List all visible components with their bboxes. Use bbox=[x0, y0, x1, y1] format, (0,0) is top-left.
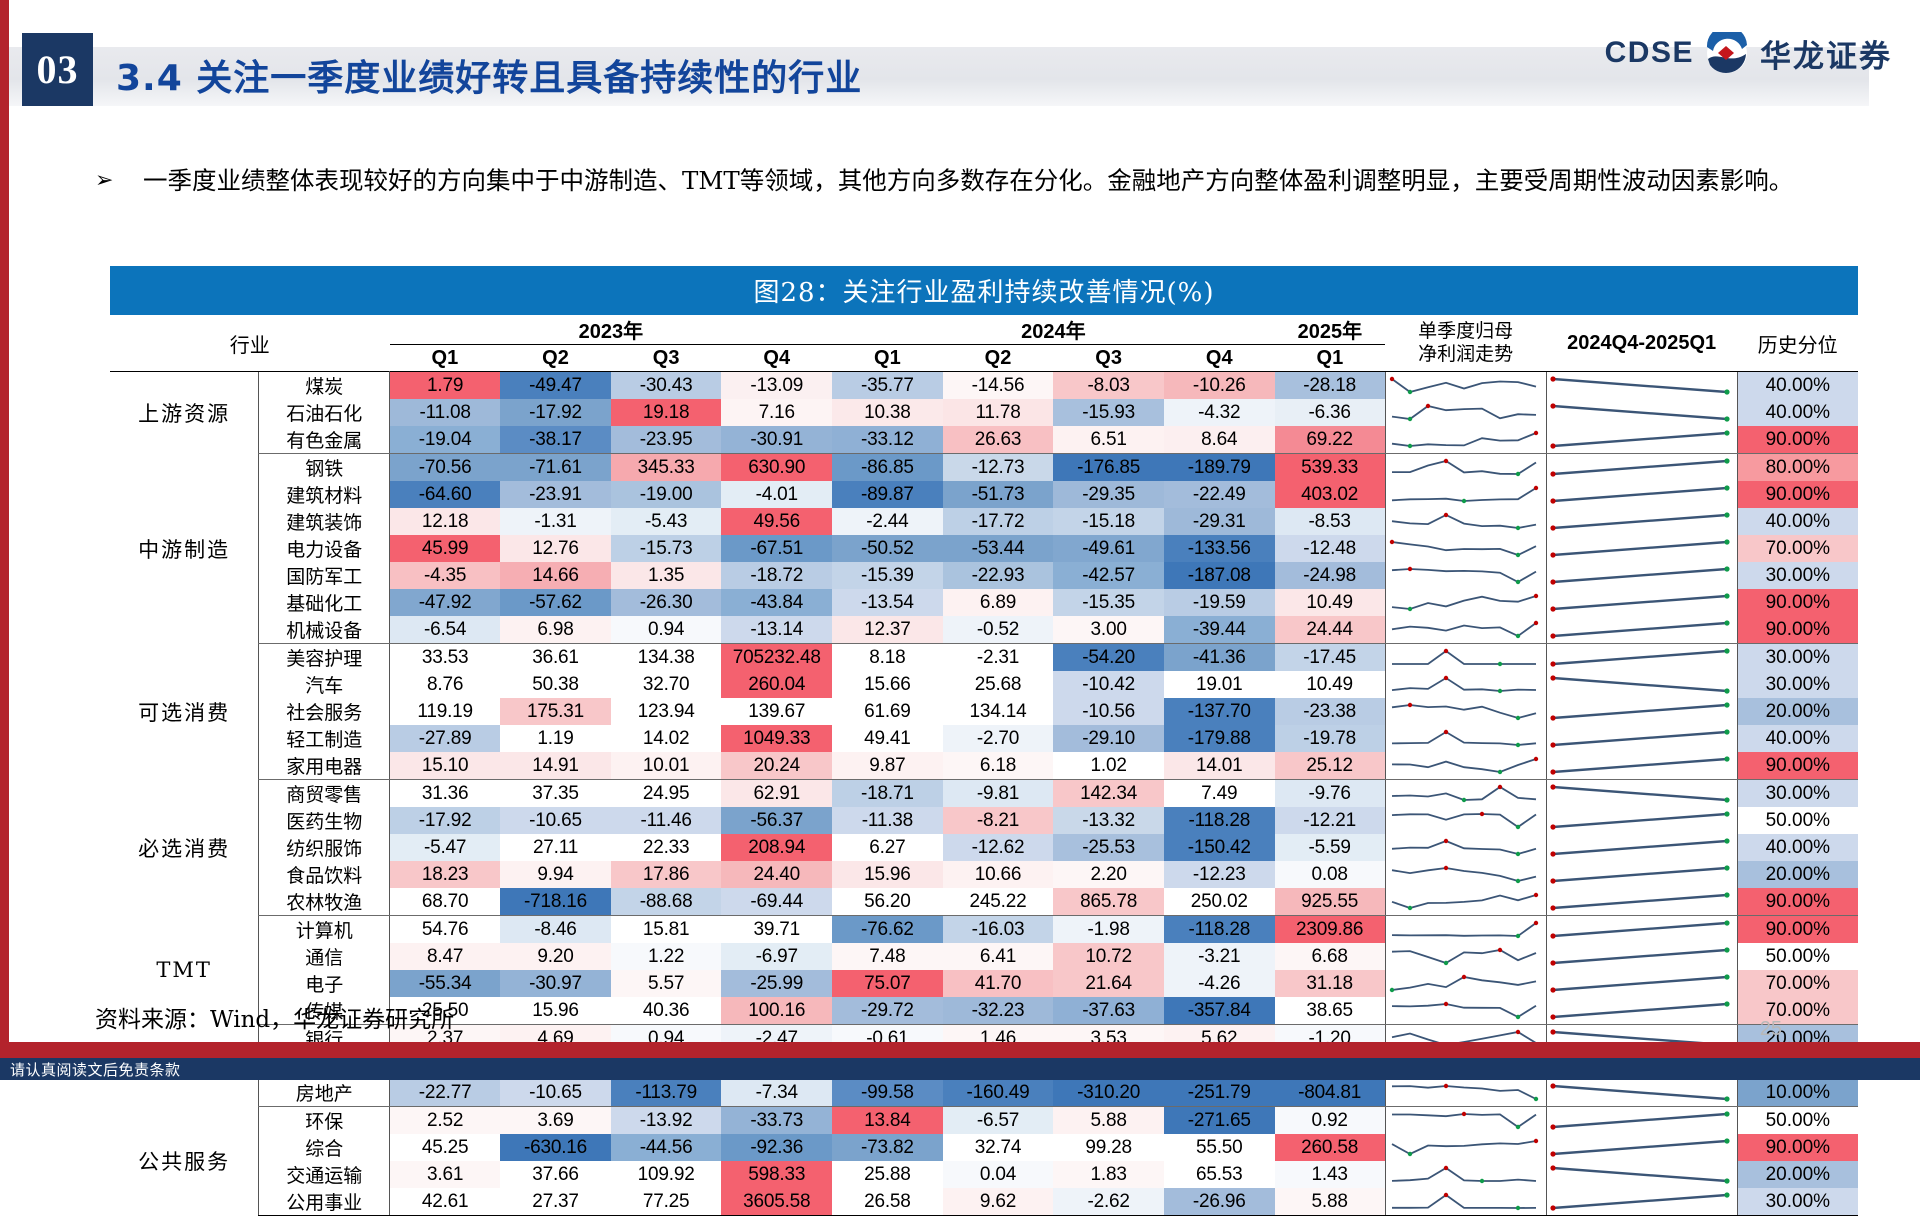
value-cell: -49.47 bbox=[500, 372, 611, 400]
value-cell: 250.02 bbox=[1164, 888, 1275, 916]
value-cell: 14.66 bbox=[500, 562, 611, 589]
page-title: 3.4 关注一季度业绩好转且具备持续性的行业 bbox=[116, 44, 862, 106]
value-cell: -14.56 bbox=[943, 372, 1054, 400]
delta-column-header: 2024Q4-2025Q1 bbox=[1546, 315, 1737, 372]
value-cell: 403.02 bbox=[1275, 481, 1386, 508]
value-cell: 6.89 bbox=[943, 589, 1054, 616]
value-cell: 3.69 bbox=[500, 1107, 611, 1135]
quarter-header-1-2: Q3 bbox=[1053, 345, 1164, 372]
value-cell: -9.81 bbox=[943, 780, 1054, 808]
value-cell: -13.32 bbox=[1053, 807, 1164, 834]
sparkline-trend bbox=[1385, 426, 1546, 454]
value-cell: -16.03 bbox=[943, 916, 1054, 944]
sparkline-delta bbox=[1546, 698, 1737, 725]
industry-cell: 轻工制造 bbox=[259, 725, 390, 752]
value-cell: -29.72 bbox=[832, 997, 943, 1025]
table-row: 汽车8.7650.3832.70260.0415.6625.68-10.4219… bbox=[110, 671, 1858, 698]
sparkline-delta bbox=[1546, 1188, 1737, 1216]
value-cell: -53.44 bbox=[943, 535, 1054, 562]
category-cell: 中游制造 bbox=[110, 454, 259, 644]
percentile-cell: 90.00% bbox=[1737, 1134, 1858, 1161]
value-cell: -2.70 bbox=[943, 725, 1054, 752]
value-cell: -10.56 bbox=[1053, 698, 1164, 725]
table-row: 通信8.479.201.22-6.977.486.4110.72-3.216.6… bbox=[110, 943, 1858, 970]
value-cell: 37.35 bbox=[500, 780, 611, 808]
value-cell: 0.08 bbox=[1275, 861, 1386, 888]
value-cell: 134.38 bbox=[611, 644, 722, 672]
value-cell: 3.00 bbox=[1053, 616, 1164, 644]
industry-cell: 房地产 bbox=[259, 1079, 390, 1107]
value-cell: -8.03 bbox=[1053, 372, 1164, 400]
sparkline-trend bbox=[1385, 807, 1546, 834]
percentile-cell: 90.00% bbox=[1737, 888, 1858, 916]
industry-cell: 商贸零售 bbox=[259, 780, 390, 808]
value-cell: -310.20 bbox=[1053, 1079, 1164, 1107]
value-cell: 15.10 bbox=[390, 752, 501, 780]
industry-cell: 汽车 bbox=[259, 671, 390, 698]
year-group-header-0: 2023年 bbox=[390, 315, 833, 345]
value-cell: -8.53 bbox=[1275, 508, 1386, 535]
value-cell: 175.31 bbox=[500, 698, 611, 725]
sparkline-delta bbox=[1546, 1134, 1737, 1161]
sparkline-trend bbox=[1385, 454, 1546, 482]
value-cell: 61.69 bbox=[832, 698, 943, 725]
value-cell: 7.48 bbox=[832, 943, 943, 970]
value-cell: -56.37 bbox=[721, 807, 832, 834]
value-cell: 36.61 bbox=[500, 644, 611, 672]
sparkline-delta bbox=[1546, 997, 1737, 1025]
value-cell: 2.20 bbox=[1053, 861, 1164, 888]
table-row: 机械设备-6.546.980.94-13.1412.37-0.523.00-39… bbox=[110, 616, 1858, 644]
value-cell: -33.12 bbox=[832, 426, 943, 454]
value-cell: -44.56 bbox=[611, 1134, 722, 1161]
sparkline-trend bbox=[1385, 671, 1546, 698]
value-cell: -6.57 bbox=[943, 1107, 1054, 1135]
figure-title-band: 图28：关注行业盈利持续改善情况(%) bbox=[110, 266, 1858, 315]
industry-cell: 美容护理 bbox=[259, 644, 390, 672]
table-row: 社会服务119.19175.31123.94139.6761.69134.14-… bbox=[110, 698, 1858, 725]
industry-cell: 基础化工 bbox=[259, 589, 390, 616]
value-cell: 22.33 bbox=[611, 834, 722, 861]
sparkline-delta bbox=[1546, 535, 1737, 562]
value-cell: 0.92 bbox=[1275, 1107, 1386, 1135]
value-cell: 77.25 bbox=[611, 1188, 722, 1216]
industry-cell: 机械设备 bbox=[259, 616, 390, 644]
value-cell: 1.79 bbox=[390, 372, 501, 400]
sparkline-trend bbox=[1385, 644, 1546, 672]
value-cell: -23.95 bbox=[611, 426, 722, 454]
value-cell: -42.57 bbox=[1053, 562, 1164, 589]
sparkline-delta bbox=[1546, 671, 1737, 698]
sparkline-trend bbox=[1385, 562, 1546, 589]
sparkline-delta bbox=[1546, 861, 1737, 888]
value-cell: 8.64 bbox=[1164, 426, 1275, 454]
value-cell: 142.34 bbox=[1053, 780, 1164, 808]
value-cell: -73.82 bbox=[832, 1134, 943, 1161]
value-cell: 14.91 bbox=[500, 752, 611, 780]
value-cell: 37.66 bbox=[500, 1161, 611, 1188]
bullet-paragraph: ➢ 一季度业绩整体表现较好的方向集中于中游制造、TMT等领域，其他方向多数存在分… bbox=[95, 158, 1855, 204]
value-cell: -19.78 bbox=[1275, 725, 1386, 752]
percentile-cell: 20.00% bbox=[1737, 1161, 1858, 1188]
value-cell: 1.19 bbox=[500, 725, 611, 752]
value-cell: -28.18 bbox=[1275, 372, 1386, 400]
value-cell: 8.18 bbox=[832, 644, 943, 672]
value-cell: -22.77 bbox=[390, 1079, 501, 1107]
value-cell: -47.92 bbox=[390, 589, 501, 616]
value-cell: 33.53 bbox=[390, 644, 501, 672]
value-cell: -30.91 bbox=[721, 426, 832, 454]
value-cell: 50.38 bbox=[500, 671, 611, 698]
value-cell: -11.46 bbox=[611, 807, 722, 834]
category-cell: 可选消费 bbox=[110, 644, 259, 780]
bullet-text: 一季度业绩整体表现较好的方向集中于中游制造、TMT等领域，其他方向多数存在分化。… bbox=[143, 158, 1855, 204]
value-cell: 12.18 bbox=[390, 508, 501, 535]
table-row: 可选消费美容护理33.5336.61134.38705232.488.18-2.… bbox=[110, 644, 1858, 672]
percentile-cell: 20.00% bbox=[1737, 698, 1858, 725]
category-cell: 上游资源 bbox=[110, 372, 259, 454]
value-cell: -10.42 bbox=[1053, 671, 1164, 698]
value-cell: -29.10 bbox=[1053, 725, 1164, 752]
value-cell: -10.26 bbox=[1164, 372, 1275, 400]
industry-cell: 环保 bbox=[259, 1107, 390, 1135]
sparkline-trend bbox=[1385, 535, 1546, 562]
value-cell: -179.88 bbox=[1164, 725, 1275, 752]
value-cell: -357.84 bbox=[1164, 997, 1275, 1025]
value-cell: 5.88 bbox=[1275, 1188, 1386, 1216]
sparkline-delta bbox=[1546, 916, 1737, 944]
industry-cell: 国防军工 bbox=[259, 562, 390, 589]
value-cell: -30.97 bbox=[500, 970, 611, 997]
value-cell: -12.21 bbox=[1275, 807, 1386, 834]
value-cell: -19.04 bbox=[390, 426, 501, 454]
table-corner-label: 行业 bbox=[110, 315, 390, 372]
value-cell: -54.20 bbox=[1053, 644, 1164, 672]
value-cell: 25.88 bbox=[832, 1161, 943, 1188]
data-table-wrapper: 行业2023年2024年2025年单季度归母净利润走势2024Q4-2025Q1… bbox=[110, 315, 1858, 1216]
percentile-cell: 30.00% bbox=[1737, 562, 1858, 589]
sparkline-trend bbox=[1385, 698, 1546, 725]
sparkline-trend bbox=[1385, 616, 1546, 644]
value-cell: 109.92 bbox=[611, 1161, 722, 1188]
value-cell: 17.86 bbox=[611, 861, 722, 888]
sparkline-delta bbox=[1546, 834, 1737, 861]
value-cell: 15.81 bbox=[611, 916, 722, 944]
category-cell: 公共服务 bbox=[110, 1107, 259, 1216]
value-cell: -15.93 bbox=[1053, 399, 1164, 426]
value-cell: -17.72 bbox=[943, 508, 1054, 535]
table-row: TMT计算机54.76-8.4615.8139.71-76.62-16.03-1… bbox=[110, 916, 1858, 944]
sparkline-delta bbox=[1546, 1161, 1737, 1188]
table-row: 家用电器15.1014.9110.0120.249.876.181.0214.0… bbox=[110, 752, 1858, 780]
sparkline-delta bbox=[1546, 616, 1737, 644]
section-number-badge: 03 bbox=[22, 33, 93, 106]
value-cell: -35.77 bbox=[832, 372, 943, 400]
value-cell: 865.78 bbox=[1053, 888, 1164, 916]
profit-table: 行业2023年2024年2025年单季度归母净利润走势2024Q4-2025Q1… bbox=[110, 315, 1858, 1216]
value-cell: 10.66 bbox=[943, 861, 1054, 888]
value-cell: -4.32 bbox=[1164, 399, 1275, 426]
value-cell: -251.79 bbox=[1164, 1079, 1275, 1107]
value-cell: 12.76 bbox=[500, 535, 611, 562]
value-cell: -86.85 bbox=[832, 454, 943, 482]
value-cell: -19.59 bbox=[1164, 589, 1275, 616]
value-cell: 40.36 bbox=[611, 997, 722, 1025]
sparkline-trend bbox=[1385, 1107, 1546, 1135]
sparkline-delta bbox=[1546, 780, 1737, 808]
value-cell: -12.73 bbox=[943, 454, 1054, 482]
sparkline-delta bbox=[1546, 644, 1737, 672]
sparkline-trend bbox=[1385, 752, 1546, 780]
value-cell: -189.79 bbox=[1164, 454, 1275, 482]
quarter-header-0-3: Q4 bbox=[721, 345, 832, 372]
value-cell: -39.44 bbox=[1164, 616, 1275, 644]
table-row: 电力设备45.9912.76-15.73-67.51-50.52-53.44-4… bbox=[110, 535, 1858, 562]
table-row: 纺织服饰-5.4727.1122.33208.946.27-12.62-25.5… bbox=[110, 834, 1858, 861]
value-cell: 705232.48 bbox=[721, 644, 832, 672]
value-cell: -15.73 bbox=[611, 535, 722, 562]
value-cell: -176.85 bbox=[1053, 454, 1164, 482]
value-cell: -0.52 bbox=[943, 616, 1054, 644]
industry-cell: 建筑材料 bbox=[259, 481, 390, 508]
value-cell: 19.18 bbox=[611, 399, 722, 426]
industry-cell: 综合 bbox=[259, 1134, 390, 1161]
table-row: 必选消费商贸零售31.3637.3524.9562.91-18.71-9.811… bbox=[110, 780, 1858, 808]
quarter-header-1-0: Q1 bbox=[832, 345, 943, 372]
value-cell: 69.22 bbox=[1275, 426, 1386, 454]
sparkline-trend bbox=[1385, 481, 1546, 508]
value-cell: -70.56 bbox=[390, 454, 501, 482]
industry-cell: 有色金属 bbox=[259, 426, 390, 454]
value-cell: -18.71 bbox=[832, 780, 943, 808]
sparkline-trend bbox=[1385, 1188, 1546, 1216]
value-cell: 1.43 bbox=[1275, 1161, 1386, 1188]
value-cell: 99.28 bbox=[1053, 1134, 1164, 1161]
value-cell: 49.56 bbox=[721, 508, 832, 535]
sparkline-trend bbox=[1385, 916, 1546, 944]
value-cell: 6.51 bbox=[1053, 426, 1164, 454]
sparkline-trend bbox=[1385, 372, 1546, 400]
value-cell: 54.76 bbox=[390, 916, 501, 944]
value-cell: 27.11 bbox=[500, 834, 611, 861]
sparkline-trend bbox=[1385, 508, 1546, 535]
value-cell: 6.18 bbox=[943, 752, 1054, 780]
value-cell: 208.94 bbox=[721, 834, 832, 861]
value-cell: 21.64 bbox=[1053, 970, 1164, 997]
percentile-cell: 70.00% bbox=[1737, 535, 1858, 562]
spark-column-header: 单季度归母净利润走势 bbox=[1385, 315, 1546, 372]
value-cell: -27.89 bbox=[390, 725, 501, 752]
value-cell: 3605.58 bbox=[721, 1188, 832, 1216]
value-cell: -12.48 bbox=[1275, 535, 1386, 562]
value-cell: 14.02 bbox=[611, 725, 722, 752]
value-cell: -13.14 bbox=[721, 616, 832, 644]
table-row: 国防军工-4.3514.661.35-18.72-15.39-22.93-42.… bbox=[110, 562, 1858, 589]
value-cell: -24.98 bbox=[1275, 562, 1386, 589]
value-cell: 3.61 bbox=[390, 1161, 501, 1188]
value-cell: -25.99 bbox=[721, 970, 832, 997]
sparkline-trend bbox=[1385, 997, 1546, 1025]
value-cell: 26.58 bbox=[832, 1188, 943, 1216]
percentile-cell: 90.00% bbox=[1737, 481, 1858, 508]
industry-cell: 钢铁 bbox=[259, 454, 390, 482]
value-cell: -4.35 bbox=[390, 562, 501, 589]
sparkline-delta bbox=[1546, 426, 1737, 454]
sparkline-trend bbox=[1385, 780, 1546, 808]
value-cell: -11.08 bbox=[390, 399, 501, 426]
table-row: 农林牧渔68.70-718.16-88.68-69.4456.20245.228… bbox=[110, 888, 1858, 916]
value-cell: -13.92 bbox=[611, 1107, 722, 1135]
industry-cell: 家用电器 bbox=[259, 752, 390, 780]
value-cell: 24.44 bbox=[1275, 616, 1386, 644]
sparkline-delta bbox=[1546, 725, 1737, 752]
value-cell: -150.42 bbox=[1164, 834, 1275, 861]
value-cell: -718.16 bbox=[500, 888, 611, 916]
quarter-header-2-0: Q1 bbox=[1275, 345, 1386, 372]
table-row: 轻工制造-27.891.1914.021049.3349.41-2.70-29.… bbox=[110, 725, 1858, 752]
value-cell: 32.70 bbox=[611, 671, 722, 698]
table-row: 有色金属-19.04-38.17-23.95-30.91-33.1226.636… bbox=[110, 426, 1858, 454]
value-cell: 8.47 bbox=[390, 943, 501, 970]
value-cell: 5.57 bbox=[611, 970, 722, 997]
value-cell: -15.35 bbox=[1053, 589, 1164, 616]
percentile-cell: 50.00% bbox=[1737, 1107, 1858, 1135]
value-cell: -2.62 bbox=[1053, 1188, 1164, 1216]
value-cell: -187.08 bbox=[1164, 562, 1275, 589]
table-row: 建筑装饰12.18-1.31-5.4349.56-2.44-17.72-15.1… bbox=[110, 508, 1858, 535]
value-cell: 630.90 bbox=[721, 454, 832, 482]
value-cell: 9.20 bbox=[500, 943, 611, 970]
sparkline-delta bbox=[1546, 399, 1737, 426]
value-cell: 25.68 bbox=[943, 671, 1054, 698]
value-cell: 10.72 bbox=[1053, 943, 1164, 970]
value-cell: 32.74 bbox=[943, 1134, 1054, 1161]
value-cell: 24.95 bbox=[611, 780, 722, 808]
value-cell: 10.49 bbox=[1275, 589, 1386, 616]
value-cell: -5.47 bbox=[390, 834, 501, 861]
value-cell: 7.16 bbox=[721, 399, 832, 426]
table-row: 中游制造钢铁-70.56-71.61345.33630.90-86.85-12.… bbox=[110, 454, 1858, 482]
percentile-column-header: 历史分位 bbox=[1737, 315, 1858, 372]
percentile-cell: 30.00% bbox=[1737, 1188, 1858, 1216]
value-cell: 1.02 bbox=[1053, 752, 1164, 780]
value-cell: 75.07 bbox=[832, 970, 943, 997]
percentile-cell: 40.00% bbox=[1737, 399, 1858, 426]
sparkline-delta bbox=[1546, 508, 1737, 535]
value-cell: -2.44 bbox=[832, 508, 943, 535]
value-cell: -1.31 bbox=[500, 508, 611, 535]
sparkline-trend bbox=[1385, 1134, 1546, 1161]
value-cell: -8.46 bbox=[500, 916, 611, 944]
industry-cell: 电子 bbox=[259, 970, 390, 997]
logo-latin-text: CDSE bbox=[1605, 36, 1694, 70]
value-cell: -22.49 bbox=[1164, 481, 1275, 508]
value-cell: -51.73 bbox=[943, 481, 1054, 508]
value-cell: 0.94 bbox=[611, 616, 722, 644]
table-row: 房地产-22.77-10.65-113.79-7.34-99.58-160.49… bbox=[110, 1079, 1858, 1107]
percentile-cell: 20.00% bbox=[1737, 861, 1858, 888]
percentile-cell: 40.00% bbox=[1737, 834, 1858, 861]
sparkline-delta bbox=[1546, 1107, 1737, 1135]
value-cell: -23.91 bbox=[500, 481, 611, 508]
industry-cell: 建筑装饰 bbox=[259, 508, 390, 535]
value-cell: -26.30 bbox=[611, 589, 722, 616]
quarter-header-0-0: Q1 bbox=[390, 345, 501, 372]
percentile-cell: 90.00% bbox=[1737, 589, 1858, 616]
value-cell: -71.61 bbox=[500, 454, 611, 482]
value-cell: 45.25 bbox=[390, 1134, 501, 1161]
value-cell: -6.54 bbox=[390, 616, 501, 644]
value-cell: 10.01 bbox=[611, 752, 722, 780]
value-cell: -7.34 bbox=[721, 1079, 832, 1107]
value-cell: 9.94 bbox=[500, 861, 611, 888]
year-group-header-1: 2024年 bbox=[832, 315, 1275, 345]
value-cell: -118.28 bbox=[1164, 807, 1275, 834]
sparkline-delta bbox=[1546, 943, 1737, 970]
value-cell: -38.17 bbox=[500, 426, 611, 454]
value-cell: 598.33 bbox=[721, 1161, 832, 1188]
company-logo: CDSE 华龙证券 bbox=[1605, 27, 1892, 79]
sparkline-delta bbox=[1546, 888, 1737, 916]
value-cell: -17.92 bbox=[390, 807, 501, 834]
industry-cell: 计算机 bbox=[259, 916, 390, 944]
percentile-cell: 50.00% bbox=[1737, 943, 1858, 970]
value-cell: 245.22 bbox=[943, 888, 1054, 916]
industry-cell: 公用事业 bbox=[259, 1188, 390, 1216]
value-cell: -17.45 bbox=[1275, 644, 1386, 672]
value-cell: 5.88 bbox=[1053, 1107, 1164, 1135]
industry-cell: 电力设备 bbox=[259, 535, 390, 562]
percentile-cell: 40.00% bbox=[1737, 372, 1858, 400]
value-cell: 31.18 bbox=[1275, 970, 1386, 997]
percentile-cell: 40.00% bbox=[1737, 508, 1858, 535]
value-cell: 134.14 bbox=[943, 698, 1054, 725]
value-cell: 41.70 bbox=[943, 970, 1054, 997]
value-cell: 27.37 bbox=[500, 1188, 611, 1216]
value-cell: -3.21 bbox=[1164, 943, 1275, 970]
sparkline-trend bbox=[1385, 888, 1546, 916]
sparkline-delta bbox=[1546, 1079, 1737, 1107]
value-cell: -6.97 bbox=[721, 943, 832, 970]
industry-cell: 石油石化 bbox=[259, 399, 390, 426]
value-cell: -13.54 bbox=[832, 589, 943, 616]
value-cell: -1.98 bbox=[1053, 916, 1164, 944]
footer-disclaimer: 请认真阅读文后免责条款 bbox=[10, 1059, 181, 1080]
value-cell: 15.96 bbox=[832, 861, 943, 888]
value-cell: -118.28 bbox=[1164, 916, 1275, 944]
value-cell: -41.36 bbox=[1164, 644, 1275, 672]
value-cell: 6.68 bbox=[1275, 943, 1386, 970]
value-cell: -160.49 bbox=[943, 1079, 1054, 1107]
sparkline-delta bbox=[1546, 481, 1737, 508]
value-cell: 31.36 bbox=[390, 780, 501, 808]
value-cell: 260.58 bbox=[1275, 1134, 1386, 1161]
value-cell: -4.26 bbox=[1164, 970, 1275, 997]
value-cell: -6.36 bbox=[1275, 399, 1386, 426]
value-cell: -30.43 bbox=[611, 372, 722, 400]
value-cell: 2309.86 bbox=[1275, 916, 1386, 944]
value-cell: -50.52 bbox=[832, 535, 943, 562]
sparkline-trend bbox=[1385, 589, 1546, 616]
value-cell: -13.09 bbox=[721, 372, 832, 400]
industry-cell: 煤炭 bbox=[259, 372, 390, 400]
percentile-cell: 90.00% bbox=[1737, 426, 1858, 454]
value-cell: 345.33 bbox=[611, 454, 722, 482]
sparkline-trend bbox=[1385, 861, 1546, 888]
value-cell: 8.76 bbox=[390, 671, 501, 698]
value-cell: -4.01 bbox=[721, 481, 832, 508]
value-cell: 11.78 bbox=[943, 399, 1054, 426]
